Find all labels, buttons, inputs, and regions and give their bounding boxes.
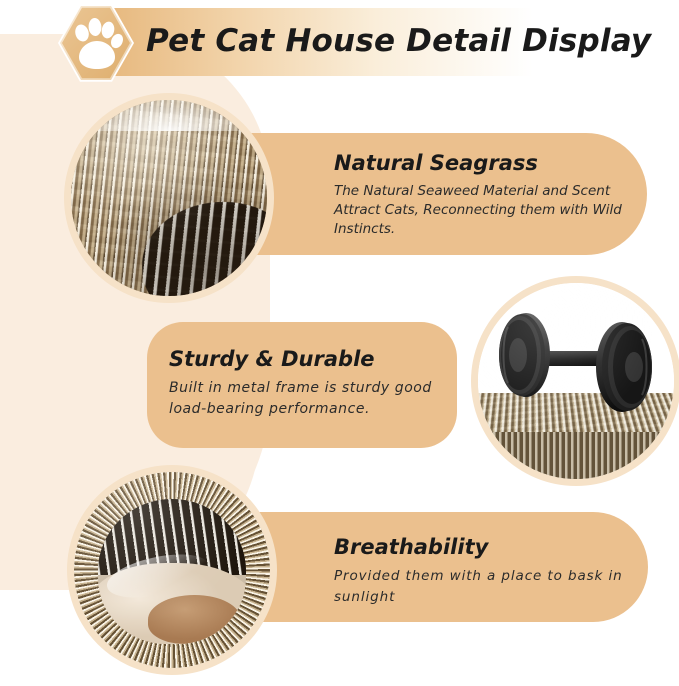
feature-text-3: Breathability Provided them with a place…	[334, 535, 624, 608]
paw-print-icon	[57, 3, 135, 83]
feature-image-1	[71, 100, 267, 296]
feature-body-3: Provided them with a place to bask in su…	[334, 566, 624, 608]
feature-image-3	[74, 472, 270, 668]
feature-body-2: Built in metal frame is sturdy good load…	[169, 378, 444, 420]
cat-house-interior-scene	[74, 472, 270, 668]
feature-title-1: Natural Seagrass	[334, 151, 624, 175]
feature-image-2	[478, 283, 674, 479]
feature-title-2: Sturdy & Durable	[169, 347, 444, 371]
seagrass-weave-texture	[71, 100, 267, 296]
infographic-page: Pet Cat House Detail Display Natural Sea…	[0, 0, 679, 686]
dumbbell-icon	[482, 299, 672, 429]
page-title: Pet Cat House Detail Display	[146, 13, 651, 69]
feature-text-1: Natural Seagrass The Natural Seaweed Mat…	[334, 151, 624, 239]
dumbbell-on-seagrass-scene	[478, 283, 674, 479]
feature-body-1: The Natural Seaweed Material and Scent A…	[334, 182, 624, 239]
header: Pet Cat House Detail Display	[0, 0, 679, 86]
feature-text-2: Sturdy & Durable Built in metal frame is…	[169, 347, 444, 420]
feature-title-3: Breathability	[334, 535, 624, 559]
